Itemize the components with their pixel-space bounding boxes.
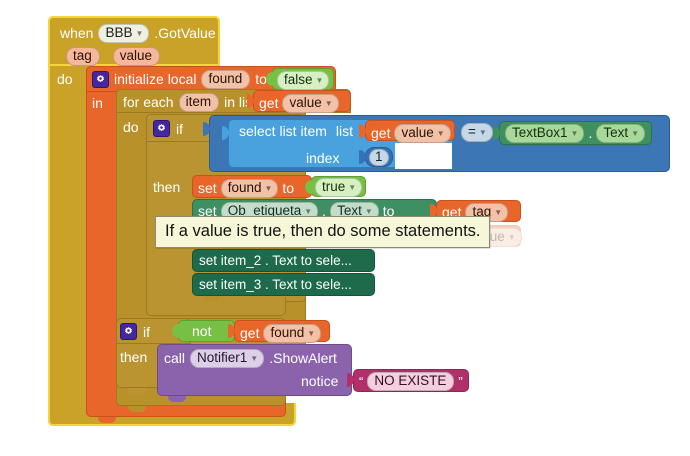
- chevron-down-icon: ▼: [250, 355, 258, 363]
- set-found-row[interactable]: set found ▼ to: [198, 179, 294, 198]
- initialize-local-row[interactable]: initialize local found to: [92, 70, 267, 89]
- not-plug: [172, 324, 179, 338]
- get-label: get: [240, 326, 259, 340]
- textbox1-component-name: TextBox1: [512, 126, 568, 140]
- get-label: get: [371, 126, 390, 140]
- logic-true-field[interactable]: true ▼: [315, 178, 362, 197]
- true-plug: [305, 180, 312, 194]
- if-outer-then-label: then: [153, 180, 180, 194]
- event-component-name: BBB: [105, 26, 132, 40]
- blocks-workspace[interactable]: when BBB ▼ .GotValue tag value do initia…: [0, 0, 690, 456]
- param-value[interactable]: value: [113, 47, 160, 66]
- number-index-field[interactable]: 1: [369, 149, 389, 166]
- chevron-down-icon: ▼: [571, 130, 579, 138]
- event-method-label: .GotValue: [154, 26, 215, 40]
- foreach-bottom-notch: [128, 406, 146, 412]
- quote-close: ”: [458, 375, 462, 388]
- notifier-call-row[interactable]: call Notifier1 ▼ .ShowAlert: [164, 349, 337, 368]
- tooltip-text: If a value is true, then do some stateme…: [165, 222, 481, 240]
- stack-notch: [203, 296, 219, 301]
- event-params-row: tag value: [66, 47, 160, 66]
- get-value-selectlist-name: value: [401, 126, 433, 140]
- text-no-existe-row[interactable]: “ NO EXISTE ”: [359, 372, 463, 391]
- set-found-var-field[interactable]: found ▼: [221, 179, 279, 198]
- logic-true-value: true: [322, 180, 345, 194]
- for-each-row[interactable]: for each item in list: [123, 93, 256, 112]
- event-do-label: do: [57, 72, 73, 86]
- textbox1-property-name: Text: [603, 126, 628, 140]
- get-value-field[interactable]: value ▼: [282, 94, 338, 113]
- event-header-row[interactable]: when BBB ▼ .GotValue: [60, 24, 216, 43]
- comparison-operator-value: =: [468, 125, 476, 139]
- get-found-row[interactable]: get found ▼: [240, 324, 321, 343]
- select-list-item-label: select list item: [239, 124, 327, 138]
- get-value-row[interactable]: get value ▼: [259, 94, 339, 113]
- notifier-method-label: .ShowAlert: [269, 351, 337, 365]
- set-label: set: [198, 181, 217, 195]
- logic-false-value: false: [284, 73, 313, 87]
- get-value-selectlist-field[interactable]: value ▼: [394, 124, 450, 143]
- textbox1-property-dropdown[interactable]: Text ▼: [596, 124, 645, 143]
- if-outer-row[interactable]: if: [153, 120, 183, 137]
- false-plug: [266, 72, 273, 86]
- chevron-down-icon: ▼: [479, 129, 487, 137]
- getter-dot: .: [588, 126, 592, 140]
- textbox1-component-dropdown[interactable]: TextBox1 ▼: [505, 124, 584, 143]
- chevron-down-icon: ▼: [325, 100, 333, 108]
- set-found-var-name: found: [228, 181, 262, 195]
- logic-false-field[interactable]: false ▼: [277, 71, 329, 90]
- get-value-name: value: [289, 96, 321, 110]
- notifier-bottom-notch: [168, 396, 186, 402]
- chevron-down-icon: ▼: [307, 330, 315, 338]
- chevron-down-icon: ▼: [437, 130, 445, 138]
- when-label: when: [60, 26, 93, 40]
- tooltip: If a value is true, then do some stateme…: [155, 216, 490, 248]
- initialize-local-in-label: in: [92, 96, 103, 110]
- chevron-down-icon: ▼: [304, 208, 312, 216]
- notifier-component-dropdown[interactable]: Notifier1 ▼: [190, 349, 264, 368]
- notifier-notice-label: notice: [301, 374, 338, 388]
- collapsed-block-item-2-label: set item_2 . Text to sele...: [199, 254, 352, 268]
- chevron-down-icon: ▼: [508, 234, 516, 242]
- collapsed-block-item-3-label: set item_3 . Text to sele...: [199, 278, 352, 292]
- mutator-gear-icon-local[interactable]: [92, 71, 109, 88]
- set-found-right-whitespace: [366, 174, 393, 199]
- if-label: if: [176, 122, 183, 136]
- get-found-field[interactable]: found ▼: [263, 324, 321, 343]
- event-component-dropdown[interactable]: BBB ▼: [98, 24, 149, 43]
- empty-socket: [395, 143, 452, 169]
- set-found-to-label: to: [282, 181, 294, 195]
- chevron-down-icon: ▼: [264, 185, 272, 193]
- quote-open: “: [359, 375, 363, 388]
- get-label: get: [259, 96, 278, 110]
- if-label: if: [143, 325, 150, 339]
- notifier-component-name: Notifier1: [197, 351, 247, 365]
- if2-bottom-notch: [128, 388, 146, 394]
- for-each-do-label: do: [123, 120, 139, 134]
- param-tag[interactable]: tag: [66, 47, 100, 66]
- call-label: call: [164, 351, 185, 365]
- comparison-operator-field[interactable]: = ▼: [461, 123, 493, 142]
- select-list-item-index-label: index: [306, 151, 339, 165]
- chevron-down-icon: ▼: [348, 184, 356, 192]
- chevron-down-icon: ▼: [316, 77, 324, 85]
- select-list-item-list-row: select list item list: [239, 124, 353, 138]
- chevron-down-icon: ▼: [631, 130, 639, 138]
- chevron-down-icon: ▼: [135, 30, 143, 38]
- mutator-gear-icon-if[interactable]: [153, 120, 170, 137]
- chevron-down-icon: ▼: [494, 209, 502, 217]
- for-each-label: for each: [123, 95, 174, 109]
- select-list-item-list-label: list: [336, 124, 353, 138]
- mutator-gear-icon-if2[interactable]: [120, 323, 137, 340]
- local-bottom-notch: [98, 417, 116, 423]
- if-not-found-row[interactable]: if: [120, 323, 150, 340]
- for-each-var-field[interactable]: item: [179, 93, 220, 112]
- textbox1-getter-row[interactable]: TextBox1 ▼ . Text ▼: [505, 124, 645, 143]
- local-var-name-field[interactable]: found: [201, 70, 250, 89]
- get-found-name: found: [270, 326, 304, 340]
- if-not-found-then-label: then: [120, 350, 147, 364]
- get-value-selectlist-row[interactable]: get value ▼: [371, 124, 451, 143]
- text-no-existe-field[interactable]: NO EXISTE: [367, 372, 454, 391]
- chevron-down-icon: ▼: [365, 208, 373, 216]
- initialize-local-label: initialize local: [114, 72, 196, 86]
- logic-not-label: not: [192, 324, 211, 338]
